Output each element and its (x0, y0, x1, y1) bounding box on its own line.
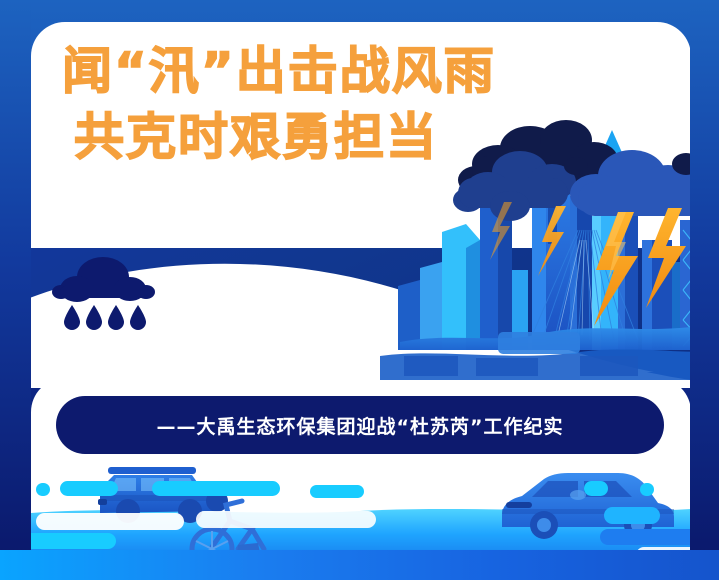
rain-cloud-icon (48, 253, 158, 333)
left-edge-rail (0, 0, 31, 580)
poster-canvas: 闻“汛”出击战风雨 共克时艰勇担当 (0, 0, 719, 580)
bottom-edge-strip (0, 550, 719, 580)
subtitle-banner: ——大禹生态环保集团迎战“杜苏芮”工作纪实 (56, 396, 664, 454)
title-line-1: 闻“汛”出击战风雨 (62, 38, 582, 104)
right-edge-rail (690, 0, 719, 580)
subtitle-text: ——大禹生态环保集团迎战“杜苏芮”工作纪实 (157, 412, 564, 439)
title-line-2: 共克时艰勇担当 (62, 104, 582, 170)
poster-title: 闻“汛”出击战风雨 共克时艰勇担当 (62, 38, 582, 170)
